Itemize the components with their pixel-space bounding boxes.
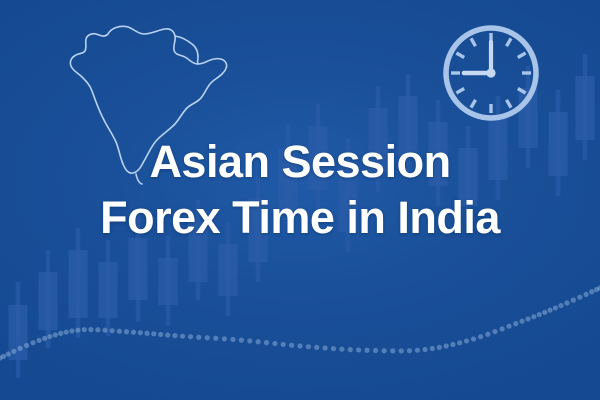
wave-dot bbox=[519, 319, 524, 324]
wave-dot bbox=[75, 328, 80, 333]
wave-dot bbox=[180, 334, 185, 339]
wave-dot bbox=[124, 329, 129, 334]
wave-dot bbox=[478, 334, 483, 339]
wave-dot bbox=[525, 316, 530, 321]
wave-dot bbox=[42, 336, 47, 341]
wave-dot bbox=[144, 331, 149, 336]
wave-dot bbox=[339, 347, 344, 352]
wave-dot bbox=[297, 343, 302, 348]
wave-dot bbox=[407, 348, 412, 353]
wave-dot bbox=[18, 346, 23, 351]
wave-dot bbox=[88, 327, 93, 332]
analog-clock-icon bbox=[438, 20, 544, 126]
wave-dot bbox=[272, 341, 277, 346]
wave-dot bbox=[506, 324, 511, 329]
wave-dot bbox=[205, 335, 210, 340]
wave-dot bbox=[331, 346, 336, 351]
wave-dot bbox=[256, 339, 261, 344]
wave-dot bbox=[47, 334, 52, 339]
wave-dot bbox=[553, 305, 558, 310]
wave-dot bbox=[577, 295, 582, 300]
wave-dot bbox=[457, 340, 462, 345]
wave-dot bbox=[53, 332, 58, 337]
wave-dot bbox=[348, 347, 353, 352]
wave-dot bbox=[589, 289, 594, 294]
wave-dot bbox=[69, 328, 74, 333]
wave-dot bbox=[542, 310, 547, 315]
wave-dot bbox=[356, 347, 361, 352]
wave-dot bbox=[583, 292, 588, 297]
wave-dot bbox=[513, 321, 518, 326]
wave-dot bbox=[264, 340, 269, 345]
wave-dot bbox=[24, 343, 29, 348]
wave-dot bbox=[444, 343, 449, 348]
wave-dot bbox=[531, 314, 536, 319]
wave-dot bbox=[464, 338, 469, 343]
wave-dot bbox=[289, 343, 294, 348]
wave-dot bbox=[110, 328, 115, 333]
wave-dot bbox=[64, 329, 69, 334]
wave-dot bbox=[492, 329, 497, 334]
wave-dot bbox=[399, 348, 404, 353]
wave-dot bbox=[382, 348, 387, 353]
wave-dot bbox=[102, 328, 107, 333]
wave-dot bbox=[30, 340, 35, 345]
wave-dot bbox=[373, 348, 378, 353]
wave-dot bbox=[314, 345, 319, 350]
wave-dot bbox=[11, 349, 16, 354]
page-title: Asian Session Forex Time in India bbox=[0, 139, 600, 240]
wave-dot bbox=[230, 337, 235, 342]
wave-dot bbox=[239, 338, 244, 343]
headline-line-1: Asian Session bbox=[0, 139, 600, 184]
wave-dot bbox=[571, 298, 576, 303]
wave-dot bbox=[58, 331, 63, 336]
wave-dot bbox=[165, 332, 170, 337]
wave-dot bbox=[450, 342, 455, 347]
wave-dot bbox=[415, 348, 420, 353]
wave-dot bbox=[485, 332, 490, 337]
wave-dot bbox=[547, 308, 552, 313]
wave-dot bbox=[471, 336, 476, 341]
forex-banner: Asian Session Forex Time in India bbox=[0, 0, 600, 400]
wave-dot bbox=[196, 335, 201, 340]
wave-dot bbox=[117, 329, 122, 334]
wave-dot bbox=[138, 330, 143, 335]
wave-dot bbox=[430, 346, 435, 351]
wave-dot bbox=[188, 334, 193, 339]
wave-dot bbox=[6, 351, 11, 356]
wave-dot bbox=[537, 312, 542, 317]
wave-dot bbox=[437, 345, 442, 350]
wave-dot bbox=[500, 326, 505, 331]
headline-line-2: Forex Time in India bbox=[0, 195, 600, 240]
wave-dot bbox=[131, 330, 136, 335]
wave-dot bbox=[151, 331, 156, 336]
wave-dot bbox=[82, 327, 87, 332]
wave-dot bbox=[281, 342, 286, 347]
wave-dot bbox=[306, 344, 311, 349]
wave-dot bbox=[247, 338, 252, 343]
wave-dot bbox=[364, 348, 369, 353]
wave-dot bbox=[158, 332, 163, 337]
wave-dot bbox=[422, 347, 427, 352]
wave-dot bbox=[36, 338, 41, 343]
wave-dot bbox=[558, 303, 563, 308]
wave-dot bbox=[172, 333, 177, 338]
wave-dot bbox=[213, 336, 218, 341]
wave-dot bbox=[1, 354, 6, 359]
wave-dot bbox=[390, 348, 395, 353]
wave-dot bbox=[323, 345, 328, 350]
wave-dot bbox=[564, 300, 569, 305]
wave-dot bbox=[95, 327, 100, 332]
wave-dot bbox=[222, 336, 227, 341]
